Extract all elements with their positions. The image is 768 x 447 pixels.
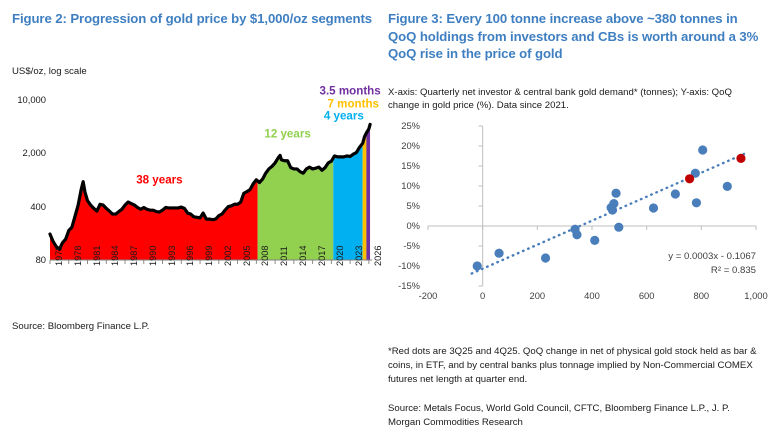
x-tick-label: 1,000 (734, 290, 768, 301)
x-tick-label: 2020 (335, 246, 345, 266)
x-tick-label: 1984 (110, 246, 120, 266)
x-tick-label: 200 (515, 290, 559, 301)
x-tick-label: 1975 (54, 246, 64, 266)
y-tick-label: -5% (386, 240, 420, 251)
x-tick-label: 400 (570, 290, 614, 301)
x-tick-label: 2014 (298, 246, 308, 266)
gold-price-chart: 10,0002,00040080 19751978198119841987199… (0, 80, 384, 310)
figure-2-source: Source: Bloomberg Finance L.P. (12, 320, 372, 334)
x-tick-label: 1981 (92, 246, 102, 266)
y-tick-label: 2,000 (0, 147, 46, 158)
x-tick-label: 1978 (73, 246, 83, 266)
x-tick-label: 600 (625, 290, 669, 301)
x-tick-label: 2008 (260, 246, 270, 266)
x-tick-label: 1990 (148, 246, 158, 266)
y-tick-label: 20% (386, 140, 420, 151)
y-tick-label: 15% (386, 160, 420, 171)
segment-label: 3.5 months (320, 85, 381, 98)
segment-label: 38 years (136, 173, 182, 186)
y-tick-label: 5% (386, 200, 420, 211)
segment-label: 12 years (264, 127, 310, 140)
x-tick-label: 0 (461, 290, 505, 301)
demand-vs-price-plot (384, 118, 768, 313)
figure-3-title: Figure 3: Every 100 tonne increase above… (388, 10, 760, 63)
x-tick-label: 2005 (242, 246, 252, 266)
x-tick-label: 2002 (223, 246, 233, 266)
figure-2-units-label: US$/oz, log scale (12, 66, 87, 77)
trendline-r2: R² = 0.835 (576, 264, 756, 278)
segment-label: 7 months (327, 97, 379, 110)
y-tick-label: 80 (0, 254, 46, 265)
x-tick-label: 1996 (185, 246, 195, 266)
demand-vs-price-chart: 25%20%15%10%5%0%-5%-10%-15% -20002004006… (384, 118, 768, 313)
figure-3-source: Source: Metals Focus, World Gold Council… (388, 402, 764, 430)
x-tick-label: -200 (406, 290, 450, 301)
figures-page: Figure 2: Progression of gold price by $… (0, 0, 768, 447)
segment-label: 4 years (324, 109, 364, 122)
y-tick-label: -10% (386, 260, 420, 271)
y-tick-label: 0% (386, 220, 420, 231)
y-tick-label: 10% (386, 180, 420, 191)
x-tick-label: 1993 (167, 246, 177, 266)
y-tick-label: 10,000 (0, 94, 46, 105)
x-tick-label: 2017 (317, 246, 327, 266)
y-tick-label: 400 (0, 201, 46, 212)
x-tick-label: 2011 (279, 246, 289, 266)
trendline-equation-label: y = 0.0003x - 0.1067 R² = 0.835 (576, 250, 756, 279)
trendline-equation: y = 0.0003x - 0.1067 (576, 250, 756, 264)
figure-2-panel: Figure 2: Progression of gold price by $… (0, 0, 384, 447)
x-tick-label: 1999 (204, 246, 214, 266)
figure-3-axis-note: X-axis: Quarterly net investor & central… (388, 86, 764, 112)
figure-2-title: Figure 2: Progression of gold price by $… (12, 10, 372, 28)
y-tick-label: 25% (386, 120, 420, 131)
x-tick-label: 800 (679, 290, 723, 301)
figure-3-footnote: *Red dots are 3Q25 and 4Q25. QoQ change … (388, 345, 764, 387)
x-tick-label: 1987 (129, 246, 139, 266)
x-tick-label: 2026 (373, 246, 383, 266)
x-tick-label: 2023 (354, 246, 364, 266)
